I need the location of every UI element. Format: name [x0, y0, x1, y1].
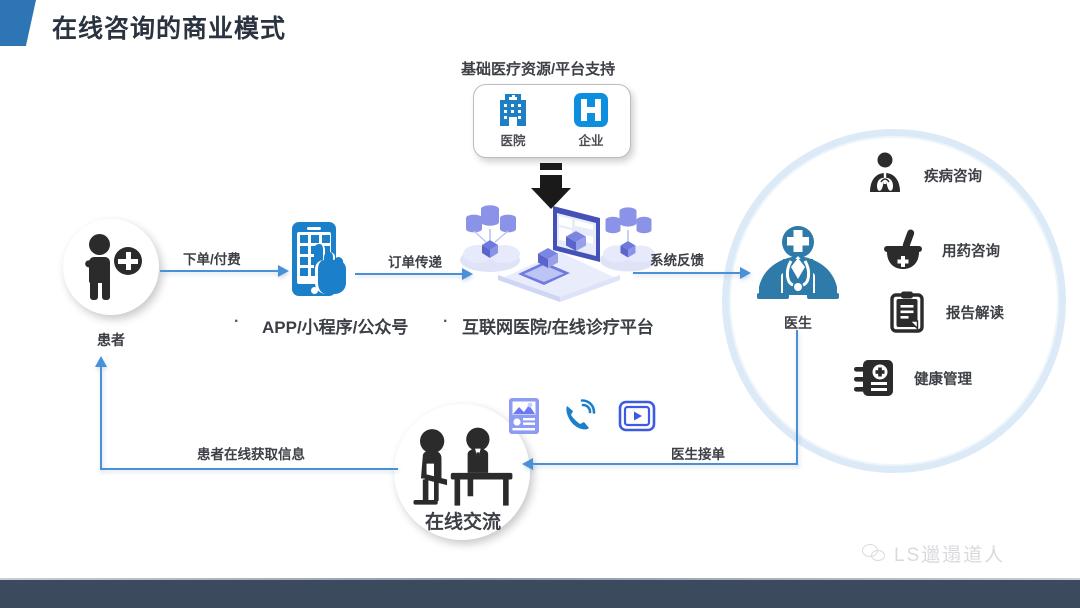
phone-ring-icon[interactable]	[562, 399, 596, 438]
watermark: LS邋遢道人	[862, 540, 1005, 567]
platform-label: 互联网医院/在线诊疗平台	[462, 313, 654, 338]
support-title: 基础医疗资源/平台支持	[461, 58, 615, 79]
service-item-report[interactable]: 报告解读	[884, 289, 1004, 335]
support-box: 医院 企业	[473, 84, 631, 158]
bottom-bar	[0, 580, 1080, 608]
patient-node[interactable]	[63, 219, 159, 315]
service-label: 健康管理	[914, 368, 972, 389]
support-item-label: 医院	[500, 130, 525, 149]
arrow-head-left	[522, 458, 533, 470]
support-item-enterprise[interactable]: 企业	[574, 93, 608, 149]
media-icon-group	[508, 398, 668, 438]
page-title: 在线咨询的商业模式	[52, 9, 286, 45]
arrow-app-to-platform	[355, 273, 465, 275]
cloud-platform-icon	[460, 196, 660, 304]
service-label: 疾病咨询	[924, 165, 982, 186]
service-item-disease[interactable]: 疾病咨询	[862, 152, 982, 198]
arrow-head-right	[278, 265, 289, 277]
mortar-pestle-icon	[880, 227, 926, 273]
arrow-doctor-down	[796, 330, 798, 465]
arrow-talk-to-patient	[100, 468, 398, 470]
service-label: 用药咨询	[942, 240, 1000, 261]
arrow-label-order-pay: 下单/付费	[183, 248, 241, 268]
bullet-app: ·	[234, 313, 239, 331]
h-letter-icon	[574, 93, 608, 127]
wechat-icon	[862, 544, 888, 564]
service-label: 报告解读	[946, 302, 1004, 323]
clipboard-report-icon	[884, 289, 930, 335]
arrow-label-order-transfer: 订单传递	[388, 251, 442, 271]
watermark-text: LS邋遢道人	[894, 540, 1005, 567]
mobile-hand-icon	[292, 222, 348, 300]
arrow-patient-to-app	[160, 270, 280, 272]
arrow-head-right	[462, 268, 473, 280]
title-accent-tab	[0, 0, 36, 46]
support-item-hospital[interactable]: 医院	[496, 93, 530, 149]
arrow-head-up	[95, 356, 107, 367]
lungs-person-icon	[862, 152, 908, 198]
bullet-platform: ·	[443, 313, 448, 331]
patient-icon	[80, 234, 142, 300]
doctor-icon[interactable]	[755, 225, 841, 305]
service-item-health[interactable]: 健康管理	[852, 355, 972, 401]
arrow-head-right	[740, 267, 751, 279]
arrow-patient-up	[100, 367, 102, 470]
hospital-icon	[496, 93, 530, 127]
service-item-medication[interactable]: 用药咨询	[880, 227, 1000, 273]
patient-label: 患者	[86, 330, 136, 350]
support-item-label: 企业	[578, 130, 603, 149]
online-talk-label: 在线交流	[414, 507, 512, 534]
arrow-label-system-feedback: 系统反馈	[650, 249, 704, 269]
arrow-doctor-to-talk	[533, 463, 798, 465]
video-play-icon[interactable]	[618, 400, 656, 437]
arrow-label-patient-info: 患者在线获取信息	[197, 443, 305, 463]
health-record-icon	[852, 355, 898, 401]
app-label: APP/小程序/公众号	[262, 313, 408, 338]
arrow-label-doctor-accept: 医生接单	[671, 443, 725, 463]
arrow-platform-to-doctor	[633, 272, 743, 274]
image-document-icon[interactable]	[508, 397, 540, 440]
slide-canvas: 在线咨询的商业模式 基础医疗资源/平台支持 医院	[0, 0, 1080, 608]
